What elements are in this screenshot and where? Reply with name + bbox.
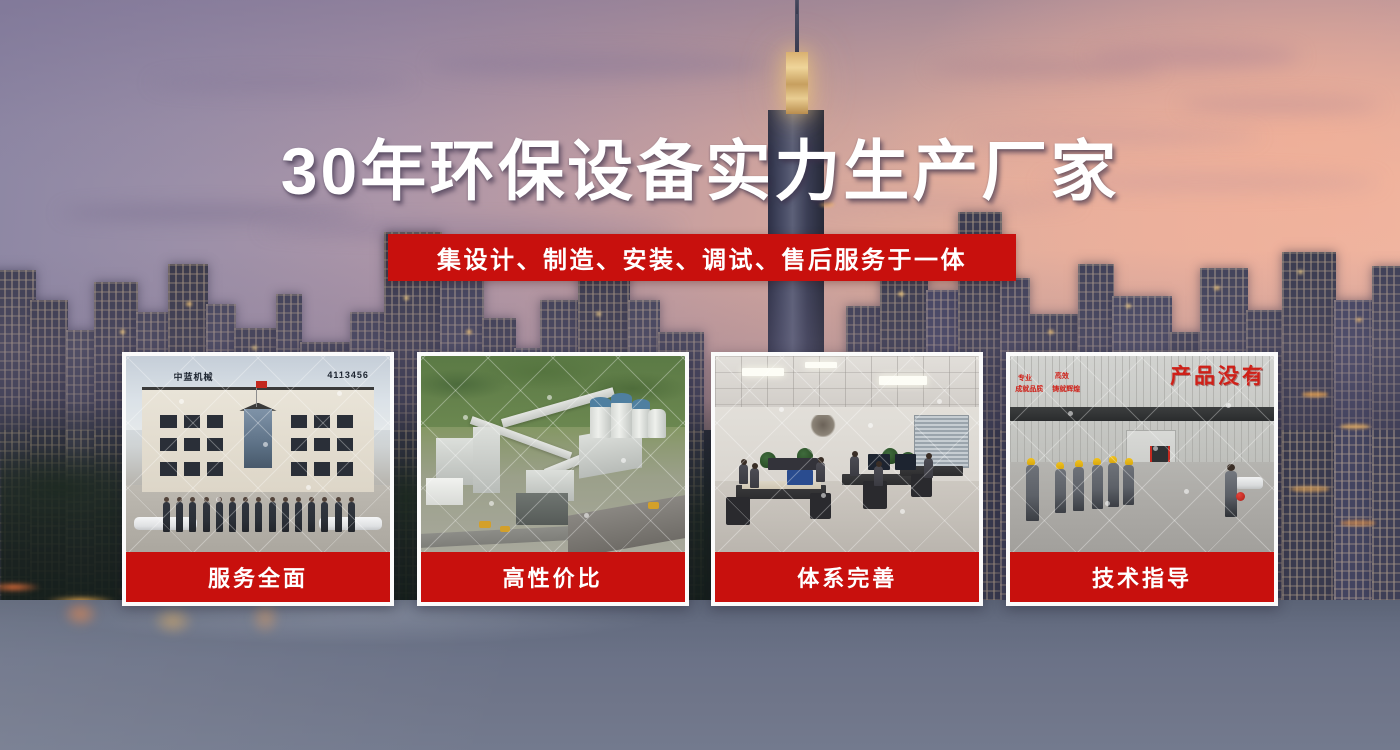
aerial-plant-photo bbox=[421, 356, 685, 552]
river-light-reflections bbox=[30, 600, 450, 646]
building-phone-text: 4113456 bbox=[327, 370, 369, 380]
factory-sign-text: 产品没有 bbox=[1170, 360, 1266, 390]
card-caption: 高性价比 bbox=[421, 552, 685, 602]
subtitle-text: 集设计、制造、安装、调试、售后服务于一体 bbox=[437, 240, 967, 275]
factory-slogan-2: 高效 bbox=[1055, 372, 1069, 381]
card-caption: 体系完善 bbox=[715, 552, 979, 602]
technical-training-photo: 产品没有 专业 高效 成就品质 铸就辉煌 bbox=[1010, 356, 1274, 552]
card-caption: 服务全面 bbox=[126, 552, 390, 602]
feature-card[interactable]: 高性价比 bbox=[417, 352, 689, 606]
tower-crown-light bbox=[786, 52, 808, 114]
page-title: 30年环保设备实力生产厂家 bbox=[0, 134, 1400, 208]
feature-card[interactable]: 中蓝机械 4113456 bbox=[122, 352, 394, 606]
feature-card[interactable]: 产品没有 专业 高效 成就品质 铸就辉煌 bbox=[1006, 352, 1278, 606]
feature-card-row: 中蓝机械 4113456 bbox=[122, 352, 1278, 606]
hero-banner: 30年环保设备实力生产厂家 集设计、制造、安装、调试、售后服务于一体 bbox=[0, 0, 1400, 750]
factory-slogan-1: 专业 bbox=[1018, 374, 1032, 383]
feature-card[interactable]: 体系完善 bbox=[711, 352, 983, 606]
factory-slogan-3: 成就品质 bbox=[1015, 385, 1043, 394]
company-headquarters-photo: 中蓝机械 4113456 bbox=[126, 356, 390, 552]
office-interior-photo bbox=[715, 356, 979, 552]
card-caption: 技术指导 bbox=[1010, 552, 1274, 602]
factory-slogan-4: 铸就辉煌 bbox=[1052, 385, 1080, 394]
subtitle-banner: 集设计、制造、安装、调试、售后服务于一体 bbox=[388, 234, 1016, 281]
building-sign-text: 中蓝机械 bbox=[174, 370, 214, 383]
tower-antenna bbox=[796, 0, 798, 14]
